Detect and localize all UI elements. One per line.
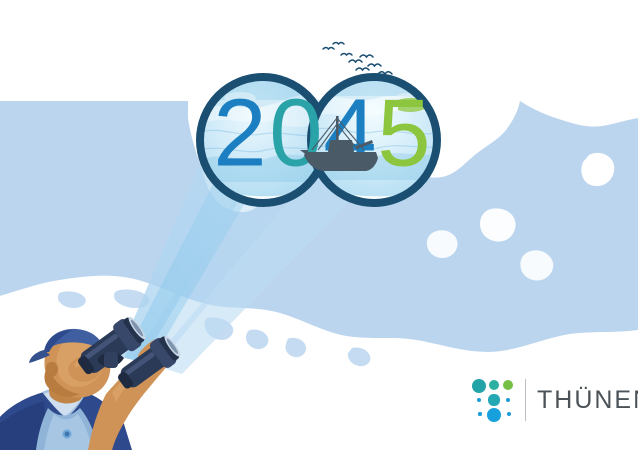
dot-green-medium — [503, 380, 514, 391]
thuenen-dot-matrix-icon — [470, 377, 516, 423]
thuenen-logo: THÜNEN — [470, 372, 630, 428]
dot-blue-tiny — [506, 398, 511, 403]
poster-canvas: 2 0 4 5 — [0, 0, 638, 450]
thuenen-wordmark: THÜNEN — [537, 388, 638, 413]
dot-teal-mid — [488, 394, 499, 405]
dot-blue-small2 — [507, 412, 512, 417]
dot-teal-medium — [489, 380, 499, 390]
dot-teal-large — [472, 379, 486, 393]
dot-blue-micro — [478, 412, 481, 415]
logo-divider — [525, 379, 526, 421]
dot-blue-large — [487, 408, 501, 422]
dot-blue-small — [477, 398, 481, 402]
